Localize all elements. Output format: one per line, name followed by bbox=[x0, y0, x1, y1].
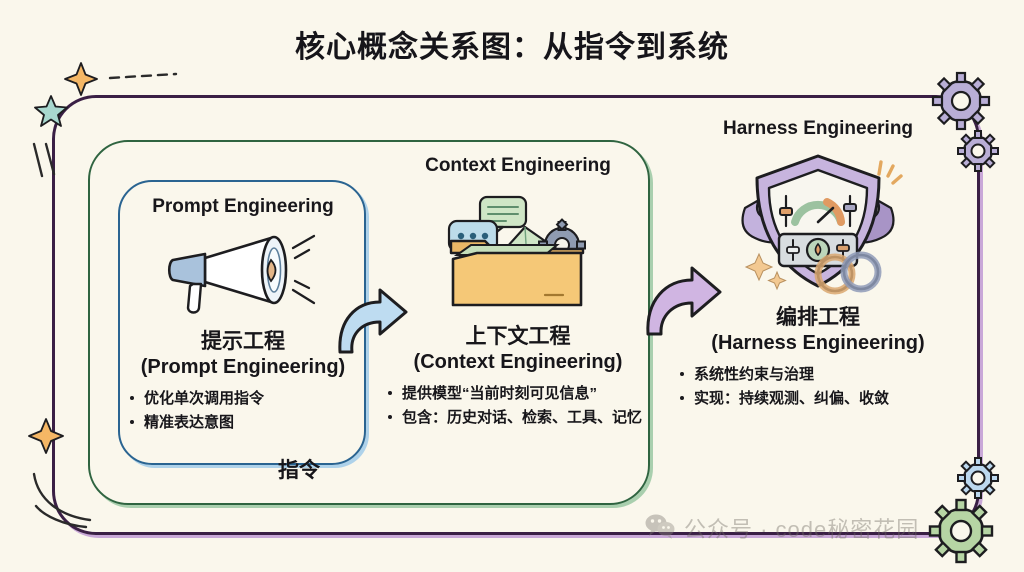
gear-top-right-large-icon bbox=[930, 70, 992, 137]
arrow-prompt-to-context-icon bbox=[330, 282, 412, 365]
gear-top-right-small-icon bbox=[955, 128, 1001, 179]
folder-icon bbox=[378, 183, 658, 320]
wechat-icon bbox=[645, 513, 675, 544]
sparkle-top-left-orange-icon bbox=[64, 62, 98, 101]
list-item: 提供模型“当前时刻可见信息” bbox=[386, 383, 658, 404]
bullet-list-harness: 系统性约束与治理 实现：持续观测、纠偏、收敛 bbox=[668, 364, 968, 409]
arrow-context-to-harness-icon bbox=[640, 262, 726, 347]
star-top-left-teal-icon bbox=[34, 94, 68, 133]
bullet-list-context: 提供模型“当前时刻可见信息” 包含：历史对话、检索、工具、记忆 bbox=[378, 383, 658, 428]
megaphone-icon-label: 指令 bbox=[278, 454, 320, 484]
bullet-list-prompt: 优化单次调用指令 精准表达意图 bbox=[118, 388, 368, 433]
page-title: 核心概念关系图：从指令到系统 bbox=[0, 22, 1024, 66]
list-item: 精准表达意图 bbox=[128, 412, 368, 433]
column-heading-context: Context Engineering bbox=[378, 155, 658, 177]
column-heading-harness: Harness Engineering bbox=[668, 118, 968, 140]
sparkle-bottom-left-orange-icon bbox=[28, 418, 64, 459]
list-item: 系统性约束与治理 bbox=[678, 364, 968, 385]
list-item: 优化单次调用指令 bbox=[128, 388, 368, 409]
dashed-line-top-left-icon bbox=[108, 70, 178, 89]
slash-marks-top-left-icon bbox=[30, 140, 64, 189]
gear-bottom-right-green-icon bbox=[925, 495, 997, 572]
list-item: 包含：历史对话、检索、工具、记忆 bbox=[386, 407, 658, 428]
arc-marks-bottom-left-icon bbox=[28, 470, 108, 535]
column-context-engineering: Context Engineering bbox=[378, 155, 658, 430]
column-heading-prompt: Prompt Engineering bbox=[118, 196, 368, 218]
column-title-en-context: (Context Engineering) bbox=[378, 350, 658, 375]
diagram-canvas: 核心概念关系图：从指令到系统 Prompt Engineering bbox=[0, 0, 1024, 572]
list-item: 实现：持续观测、纠偏、收敛 bbox=[678, 388, 968, 409]
watermark-text: 公众号 · code秘密花园 bbox=[684, 512, 919, 544]
column-title-cn-context: 上下文工程 bbox=[378, 324, 658, 350]
watermark: 公众号 · code秘密花园 bbox=[645, 512, 919, 544]
